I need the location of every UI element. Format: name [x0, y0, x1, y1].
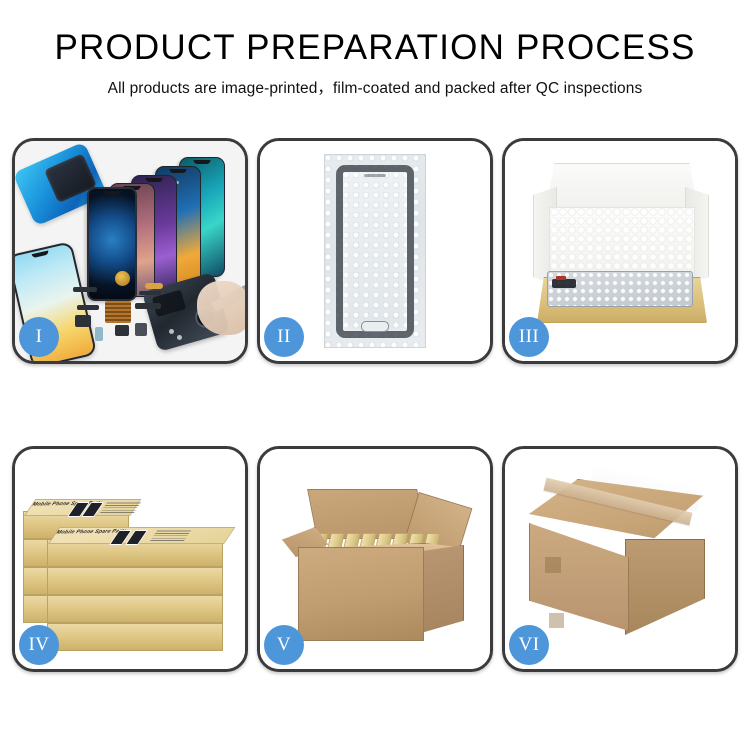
kraft-box: [47, 567, 223, 595]
carton-front-panel-icon: [298, 547, 424, 641]
carton-front-panel-icon: [529, 523, 629, 631]
process-step-grid: I II: [12, 138, 738, 672]
process-step-4: Mobile Phone Spare Parts Mobile Phone Sp…: [12, 446, 248, 672]
sealed-carton-icon: [529, 479, 711, 645]
spare-parts-cluster-icon: [73, 283, 203, 357]
process-step-2: II: [257, 138, 493, 364]
wrapped-screen-glass-icon: [336, 165, 414, 338]
step-badge-4: IV: [19, 625, 59, 665]
step-badge-6: VI: [509, 625, 549, 665]
kraft-box: Mobile Phone Spare Parts: [47, 539, 223, 567]
page-title: PRODUCT PREPARATION PROCESS: [0, 30, 750, 67]
box-spec-lines-icon: [100, 501, 142, 513]
process-step-3: III: [502, 138, 738, 364]
home-button-icon: [361, 321, 389, 332]
antenna-flex-icon: [135, 303, 161, 309]
button-set-icon: [135, 323, 147, 336]
vibration-motor-icon: [115, 271, 130, 286]
product-preparation-page: PRODUCT PREPARATION PROCESS All products…: [0, 0, 750, 750]
connector-icon: [75, 315, 91, 327]
notch-icon: [146, 178, 163, 182]
page-header: PRODUCT PREPARATION PROCESS All products…: [0, 0, 750, 98]
step-badge-3: III: [509, 317, 549, 357]
notch-icon: [170, 169, 187, 173]
kraft-box-stack-icon: Mobile Phone Spare Parts Mobile Phone Sp…: [21, 467, 241, 657]
step-badge-2: II: [264, 317, 304, 357]
screw-icon: [169, 329, 174, 334]
camera-lens-icon: [95, 327, 103, 341]
carton-side-panel-icon: [625, 539, 705, 635]
carton-crease-icon: [549, 613, 564, 628]
speaker-mesh-icon: [73, 287, 97, 292]
process-step-6: VI: [502, 446, 738, 672]
page-subtitle: All products are image-printed，film-coat…: [0, 76, 750, 98]
step-badge-5: V: [264, 625, 304, 665]
flex-cable-icon: [139, 291, 161, 295]
flex-cable-icon: [77, 305, 99, 310]
process-step-1: I: [12, 138, 248, 364]
sim-tray-icon: [115, 325, 129, 336]
carton-crease-icon: [545, 557, 561, 573]
screw-icon: [177, 335, 182, 340]
notch-icon: [104, 191, 121, 195]
copper-shield-pad-icon: [105, 301, 131, 323]
flex-cable-gold-icon: [145, 283, 163, 289]
kraft-box: [47, 595, 223, 623]
notch-icon: [31, 250, 48, 258]
phone-lineup-icon: [93, 153, 243, 293]
earpiece-icon: [364, 174, 386, 177]
notch-icon: [194, 160, 211, 164]
bubble-wrap-sheet-icon: [324, 154, 426, 348]
open-shipping-carton-icon: [286, 483, 464, 641]
kraft-box: [47, 623, 223, 651]
packed-screen-icon: [547, 271, 693, 307]
process-step-5: V: [257, 446, 493, 672]
open-kraft-box-icon: [533, 163, 709, 339]
step-badge-1: I: [19, 317, 59, 357]
